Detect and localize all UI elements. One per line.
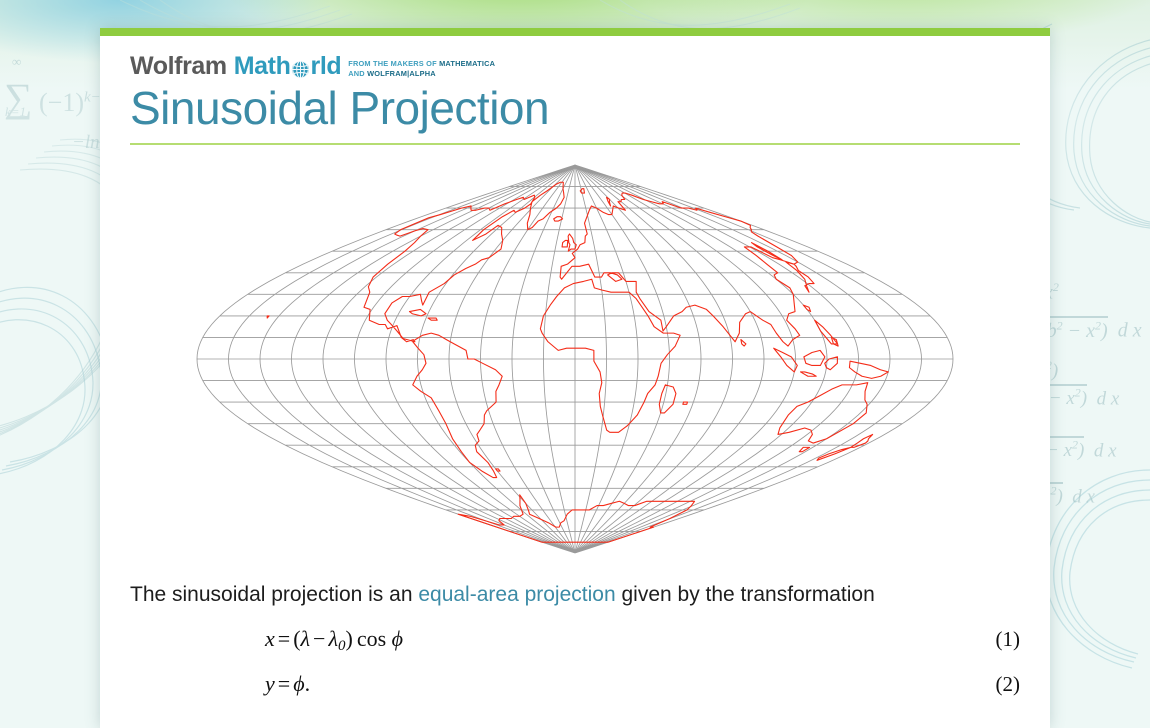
site-logo[interactable]: Wolfram Math: [130, 54, 1020, 79]
paragraph-text-post: given by the transformation: [616, 583, 875, 606]
equation-row-1: x=(λ−λ0)cos ϕ (1): [130, 626, 1020, 655]
logo-mathworld-text: Math rld: [234, 54, 341, 79]
eq2-phi: ϕ: [293, 671, 304, 696]
eq2-period: .: [305, 671, 311, 696]
logo-wolfram-text: Wolfram: [130, 54, 227, 79]
logo-world-text: rld: [310, 54, 341, 79]
content-card: Wolfram Math: [100, 28, 1050, 728]
title-underline-rule: [130, 143, 1020, 145]
equal-area-projection-link[interactable]: equal-area projection: [418, 583, 615, 606]
eq1-paren-close: ): [345, 626, 352, 651]
eq1-paren-open: (: [293, 626, 300, 651]
logo-math-text: Math: [234, 54, 291, 79]
equation-2-body: y=ϕ.: [265, 671, 310, 697]
tagline-line-2: AND WOLFRAM|ALPHA: [348, 69, 495, 79]
eq1-lhs: x: [265, 626, 275, 651]
equation-1-number: (1): [996, 627, 1021, 652]
eq1-lambda: λ: [301, 626, 311, 651]
equation-row-2: y=ϕ. (2): [130, 671, 1020, 697]
page-title: Sinusoidal Projection: [130, 81, 1020, 135]
eq1-minus: −: [310, 626, 328, 651]
card-top-accent-bar: [100, 28, 1050, 36]
eq1-equals: =: [275, 626, 293, 651]
eq1-cos: cos: [353, 626, 386, 651]
equation-2-number: (2): [996, 672, 1021, 697]
logo-tagline: FROM THE MAKERS OF MATHEMATICA AND WOLFR…: [348, 59, 495, 78]
eq1-lambda0: λ: [328, 626, 338, 651]
paragraph-text-pre: The sinusoidal projection is an: [130, 583, 418, 606]
eq2-lhs: y: [265, 671, 275, 696]
globe-icon: [291, 59, 310, 78]
tagline-line-1: FROM THE MAKERS OF MATHEMATICA: [348, 59, 495, 69]
eq1-phi: ϕ: [392, 626, 403, 651]
figure-container: [130, 159, 1020, 559]
sinusoidal-projection-map: [190, 159, 960, 559]
equation-1-body: x=(λ−λ0)cos ϕ: [265, 626, 403, 655]
eq2-equals: =: [275, 671, 293, 696]
intro-paragraph: The sinusoidal projection is an equal-ar…: [130, 581, 1020, 609]
